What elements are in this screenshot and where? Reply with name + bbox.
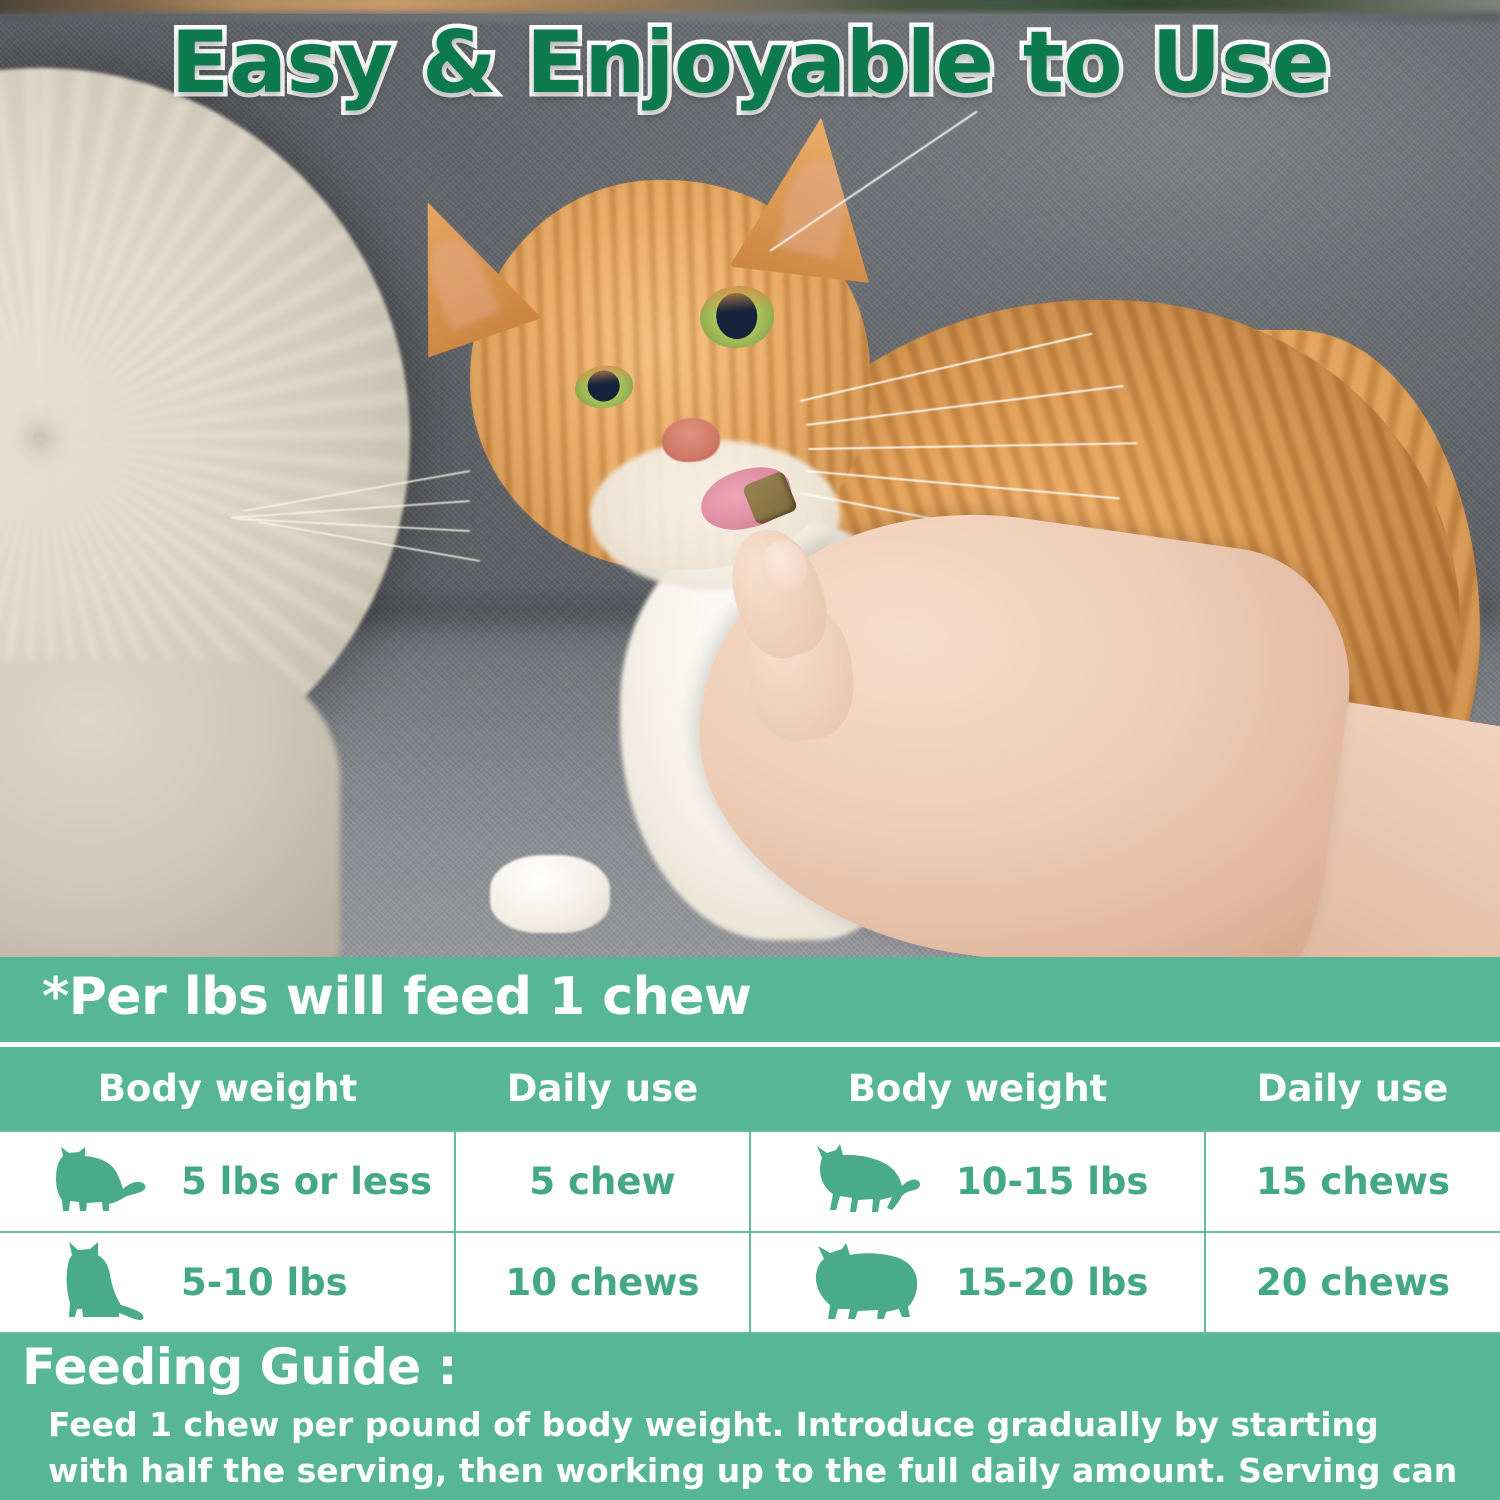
feeding-guide-section: Feeding Guide : Feed 1 chew per pound of… <box>0 1344 1500 1500</box>
column-header-daily-use-1: Daily use <box>455 1047 750 1131</box>
cell-daily-use: 20 chews <box>1205 1232 1500 1333</box>
lower-cushion <box>0 660 340 957</box>
table-header-row: Body weight Daily use Body weight Daily … <box>0 1047 1500 1131</box>
cell-body-weight: 10-15 lbs <box>950 1131 1205 1232</box>
cat-paw-front-left <box>490 855 610 933</box>
feeding-table: Body weight Daily use Body weight Daily … <box>0 1047 1500 1334</box>
cat-standing-icon-cell <box>0 1131 175 1232</box>
cell-daily-use: 5 chew <box>455 1131 750 1232</box>
feeding-guide-text: Feed 1 chew per pound of body weight. In… <box>48 1402 1468 1500</box>
column-header-body-weight-1: Body weight <box>0 1047 455 1131</box>
cell-body-weight: 15-20 lbs <box>950 1232 1205 1333</box>
product-infographic: Easy & Enjoyable to Use *Per lbs will fe… <box>0 0 1500 1500</box>
cat-sitting-icon <box>49 1241 149 1325</box>
cat-fluffy-icon <box>798 1243 924 1323</box>
cat-standing-icon <box>39 1145 149 1219</box>
page-title: Easy & Enjoyable to Use <box>0 20 1500 106</box>
column-header-daily-use-2: Daily use <box>1205 1047 1500 1131</box>
cell-body-weight: 5 lbs or less <box>175 1131 455 1232</box>
cell-daily-use: 10 chews <box>455 1232 750 1333</box>
feeding-panel: *Per lbs will feed 1 chew Body weight Da… <box>0 957 1500 1500</box>
cat-walking-icon <box>800 1144 924 1220</box>
cell-body-weight: 5-10 lbs <box>175 1232 455 1333</box>
cat-sitting-icon-cell <box>0 1232 175 1333</box>
per-lbs-note: *Per lbs will feed 1 chew <box>42 967 751 1027</box>
table-row: 5 lbs or less 5 chew 10-15 lbs 15 chews <box>0 1131 1500 1232</box>
table-row: 5-10 lbs 10 chews 15-20 lbs 20 chews <box>0 1232 1500 1333</box>
feeding-guide-title: Feeding Guide : <box>22 1338 457 1396</box>
hero-photo: Easy & Enjoyable to Use <box>0 0 1500 957</box>
cell-daily-use: 15 chews <box>1205 1131 1500 1232</box>
cat-fluffy-icon-cell <box>750 1232 950 1333</box>
cat-walking-icon-cell <box>750 1131 950 1232</box>
column-header-body-weight-2: Body weight <box>750 1047 1205 1131</box>
